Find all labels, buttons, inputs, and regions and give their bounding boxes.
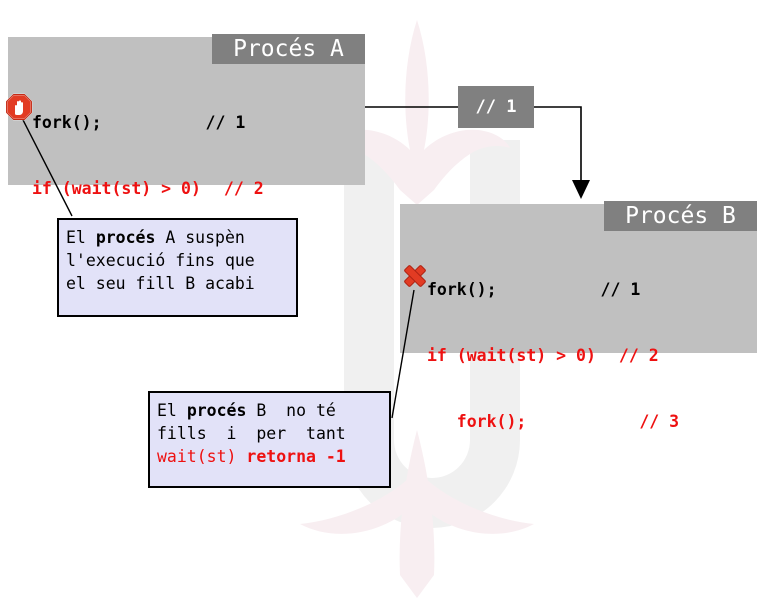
arrow-down-icon: [572, 180, 590, 199]
process-b-code: fork();// 1 if (wait(st) > 0)// 2 fork()…: [427, 235, 679, 477]
code-text: fork();: [427, 412, 526, 431]
stop-hand-icon: [5, 93, 33, 121]
code-line: fork();// 1: [32, 112, 284, 134]
code-text: fork();: [427, 280, 497, 299]
code-comment: // 2: [619, 346, 659, 365]
code-line: if (wait(st) > 0)// 2: [32, 178, 284, 200]
callout-b-line-1: El procés B no té: [157, 399, 382, 422]
callout-b-line-2: fills i per tant: [157, 422, 382, 445]
code-text: if (wait(st) > 0): [427, 346, 596, 365]
edge-label-one: // 1: [458, 86, 534, 128]
callout-process-b: El procés B no té fills i per tant wait(…: [148, 391, 391, 488]
code-text: if (wait(st) > 0): [32, 179, 201, 198]
callout-b-line-3: wait(st) retorna -1: [157, 445, 382, 468]
code-line: fork();// 3: [427, 411, 679, 433]
code-comment: // 2: [224, 179, 264, 198]
code-line: fork();// 1: [427, 279, 679, 301]
process-b-header: Procés B: [604, 201, 757, 231]
code-comment: // 1: [206, 113, 246, 132]
callout-a-line-2: l'execució fins que: [66, 249, 289, 272]
callout-process-a: El procés A suspèn l'execució fins que e…: [57, 218, 298, 317]
diagram-canvas: Procés A fork();// 1 if (wait(st) > 0)//…: [0, 0, 769, 598]
callout-a-line-1: El procés A suspèn: [66, 226, 289, 249]
callout-a-line-3: el seu fill B acabi: [66, 272, 289, 295]
code-line: if (wait(st) > 0)// 2: [427, 345, 679, 367]
red-x-icon: [401, 262, 429, 290]
code-comment: // 3: [639, 412, 679, 431]
code-comment: // 1: [601, 280, 641, 299]
code-text: fork();: [32, 113, 102, 132]
wire-label-to-b: [534, 107, 581, 182]
process-a-header: Procés A: [212, 34, 365, 64]
